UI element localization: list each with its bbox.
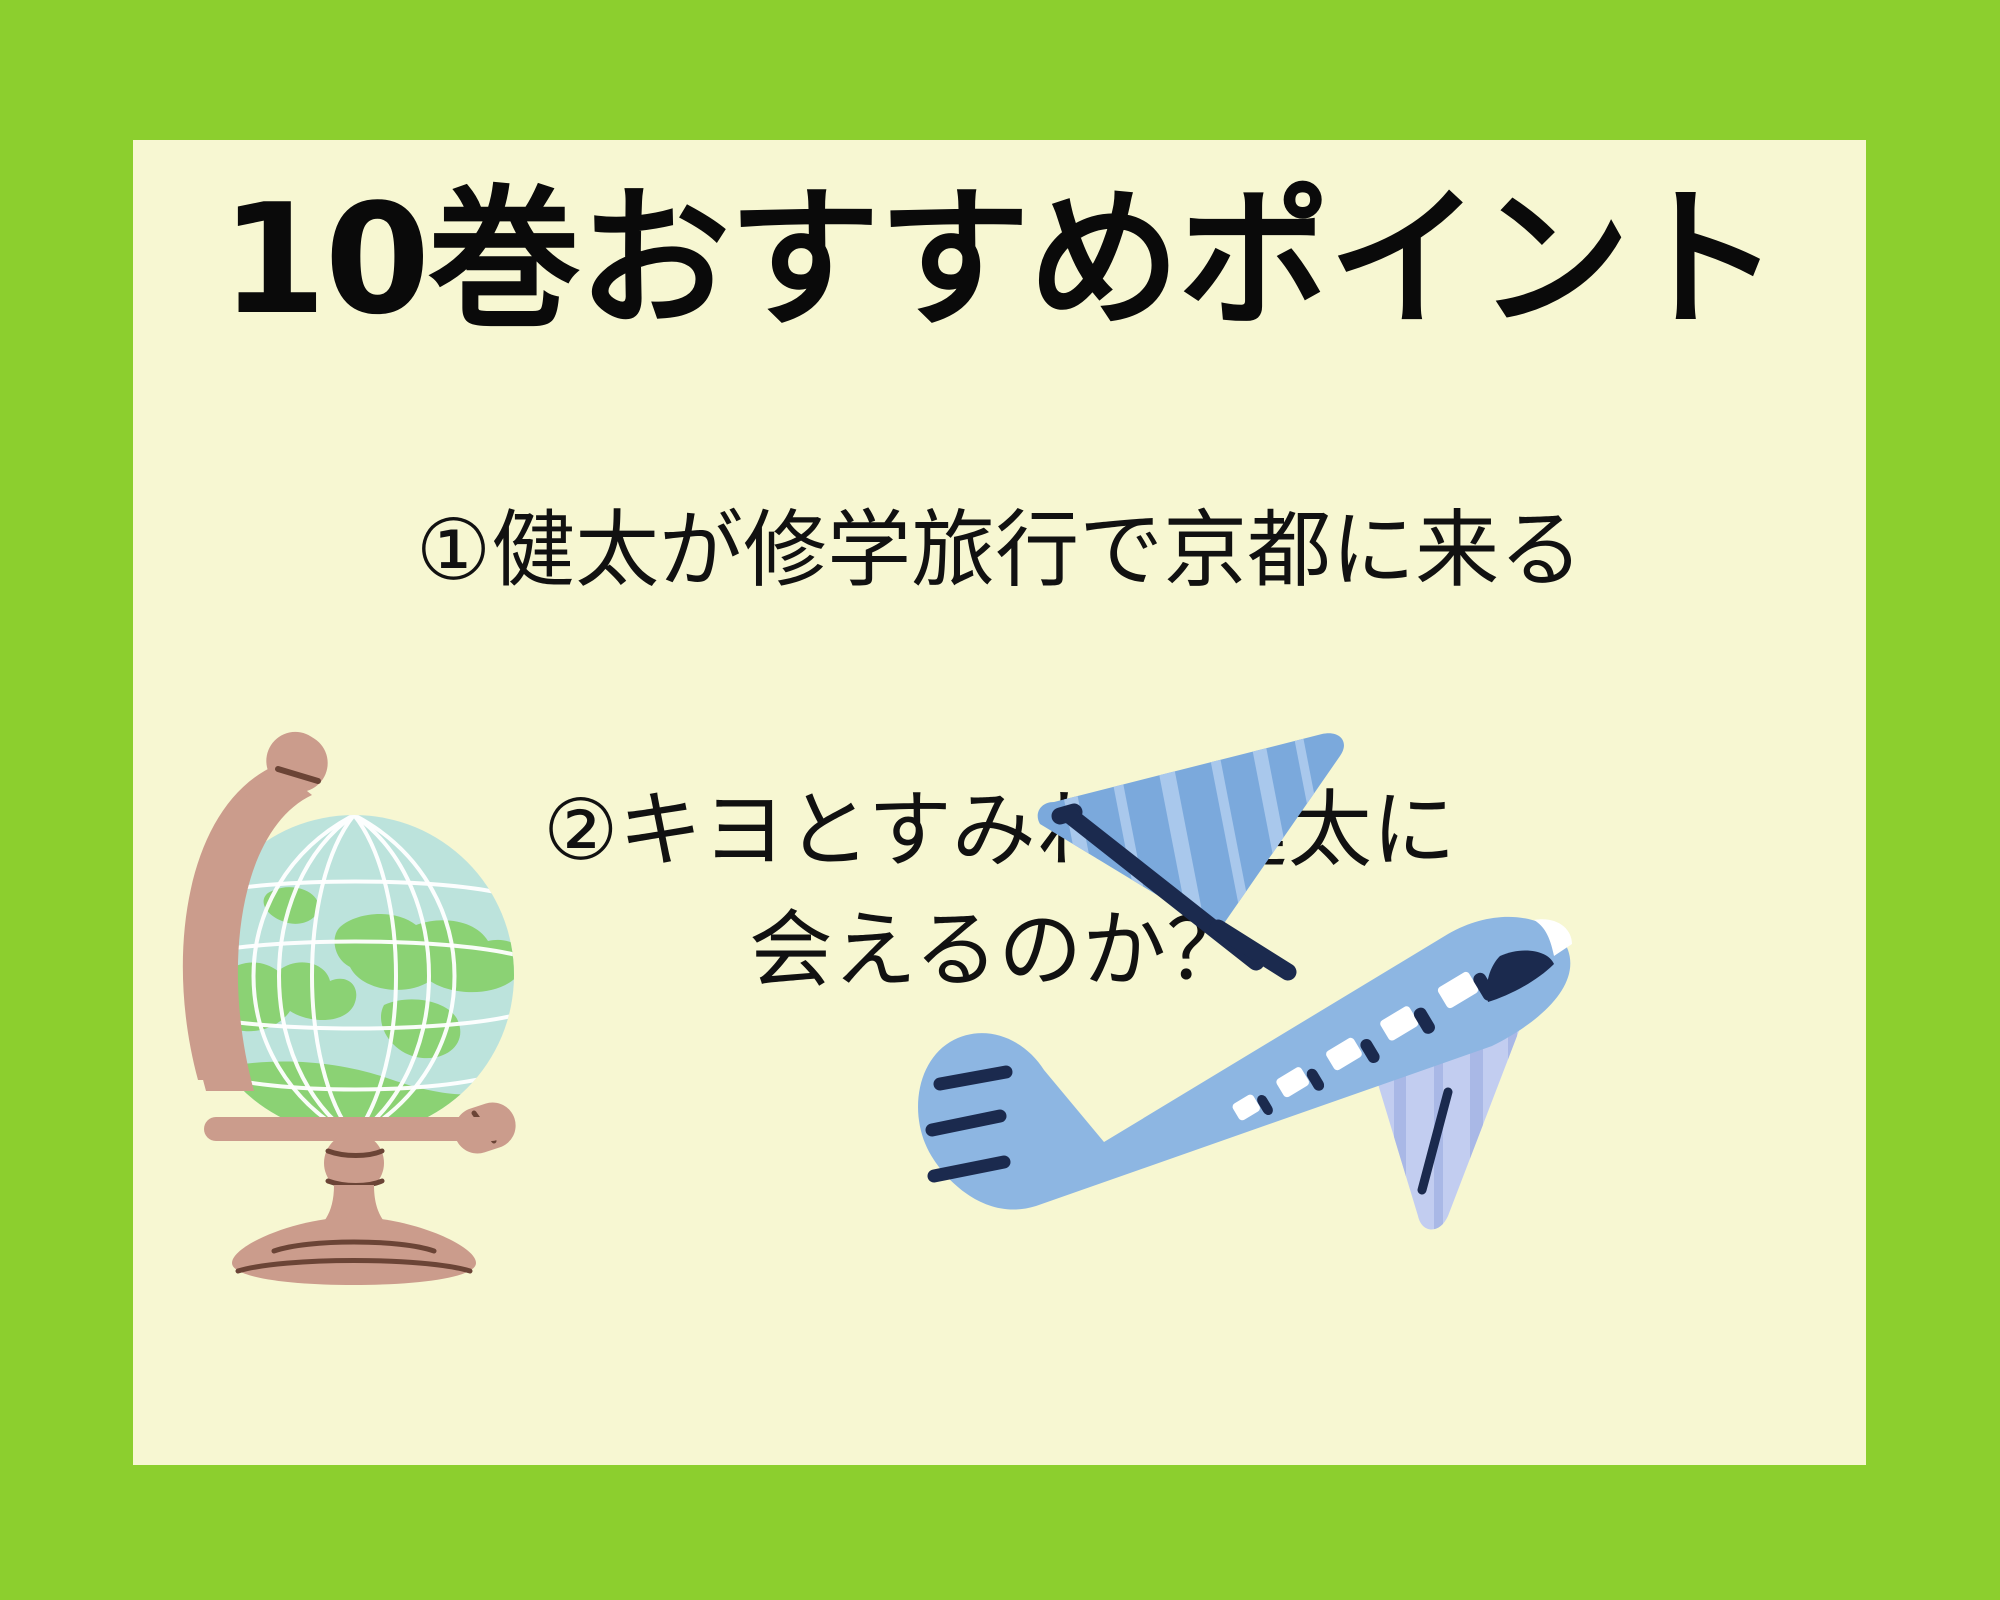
airplane-illustration xyxy=(888,720,1588,1250)
slide-canvas: 10巻おすすめポイント ①健太が修学旅行で京都に来る ②キヨとすみれは健太に 会… xyxy=(0,0,2000,1600)
content-card: 10巻おすすめポイント ①健太が修学旅行で京都に来る ②キヨとすみれは健太に 会… xyxy=(133,140,1866,1465)
airplane-upper-wing xyxy=(1038,721,1350,979)
globe-base xyxy=(232,1217,476,1285)
page-title: 10巻おすすめポイント xyxy=(133,170,1866,349)
recommend-point-1: ①健太が修学旅行で京都に来る xyxy=(133,500,1866,601)
globe-illustration xyxy=(158,705,558,1285)
